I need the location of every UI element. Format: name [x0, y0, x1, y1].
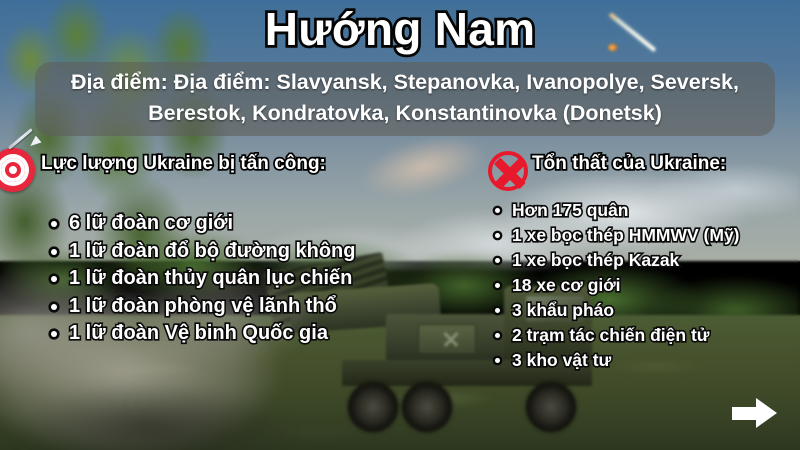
arrow-head	[756, 398, 777, 428]
attacked-forces-column: Lực lượng Ukraine bị tấn công: 6 lữ đoàn…	[18, 152, 448, 348]
list-item: 18 xe cơ giới	[495, 273, 792, 298]
list-item: 1 lữ đoàn đổ bộ đường không	[51, 238, 448, 266]
list-item: 1 lữ đoàn Vệ binh Quốc gia	[51, 320, 448, 348]
arrow-right-icon[interactable]	[732, 398, 778, 428]
dart-fletching	[27, 136, 41, 150]
target-bullseye	[9, 166, 17, 174]
losses-column: Tổn thất của Ukraine: Hơn 175 quân 1 xe …	[492, 152, 792, 373]
list-item: 1 lữ đoàn thủy quân lục chiến	[51, 265, 448, 293]
list-item: 2 trạm tác chiến điện tử	[495, 323, 792, 348]
list-item: 1 lữ đoàn phòng vệ lãnh thổ	[51, 293, 448, 321]
list-item: 3 khẩu pháo	[495, 298, 792, 323]
dart-shaft	[8, 128, 33, 150]
attacked-forces-list: 6 lữ đoàn cơ giới 1 lữ đoàn đổ bộ đường …	[51, 210, 448, 348]
list-item: 1 xe bọc thép Kazak	[495, 248, 792, 273]
attacked-forces-heading: Lực lượng Ukraine bị tấn công:	[41, 152, 448, 176]
list-item: 3 kho vật tư	[495, 348, 792, 373]
content-layer: Hướng Nam Địa điểm: Địa điểm: Slavyansk,…	[0, 0, 800, 450]
list-item: 6 lữ đoàn cơ giới	[51, 210, 448, 238]
list-item: Hơn 175 quân	[495, 198, 792, 223]
page-title: Hướng Nam	[0, 0, 800, 60]
infographic-slide: Hướng Nam Địa điểm: Địa điểm: Slavyansk,…	[0, 0, 800, 450]
location-banner: Địa điểm: Địa điểm: Slavyansk, Stepanovk…	[35, 62, 775, 136]
list-item: 1 xe bọc thép HMMWV (Mỹ)	[495, 223, 792, 248]
losses-list: Hơn 175 quân 1 xe bọc thép HMMWV (Mỹ) 1 …	[495, 198, 792, 373]
losses-heading: Tổn thất của Ukraine:	[532, 152, 792, 176]
location-text: Địa điểm: Địa điểm: Slavyansk, Stepanovk…	[45, 67, 765, 129]
